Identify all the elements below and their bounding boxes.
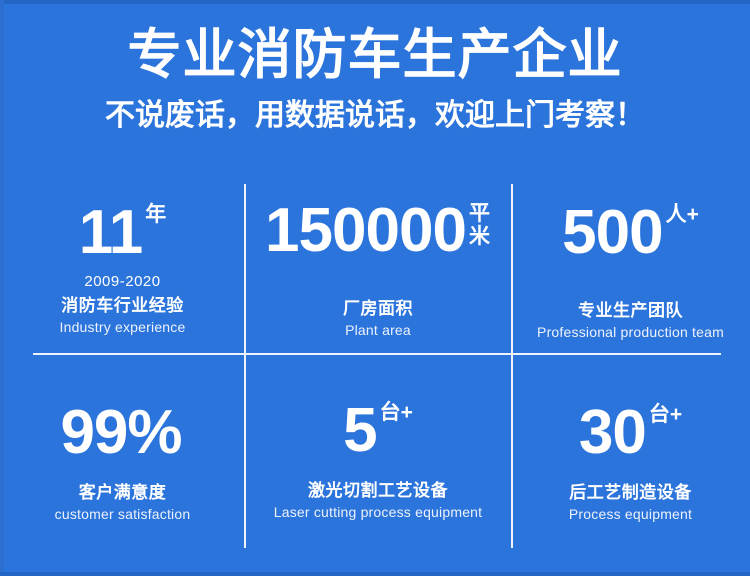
stat-value-group: 5 台+ [343,400,413,462]
company-stats-banner: 专业消防车生产企业 不说废话，用数据说话，欢迎上门考察！ 11 年 2009-2… [0,0,750,576]
top-edge-border [0,0,750,4]
bottom-edge-border [0,572,750,576]
stat-label-en: Laser cutting process equipment [274,503,483,521]
stats-row-bottom: 99% 客户满意度 customer satisfaction 5 台+ 激光切… [0,354,750,526]
stat-unit: 台+ [649,404,682,425]
stat-label-cn: 客户满意度 [79,482,167,503]
stat-number: 500 [562,202,662,264]
stat-label-en: Process equipment [569,505,692,523]
stats-grid: 11 年 2009-2020 消防车行业经验 Industry experien… [0,178,750,550]
stat-number: 99% [60,402,181,464]
stat-label-en: customer satisfaction [55,505,191,523]
grid-divider-vertical-left [244,184,246,548]
stat-label-cn: 厂房面积 [343,298,413,319]
stat-value-group: 150000 平米 [265,200,491,262]
stat-label-cn: 后工艺制造设备 [569,482,692,503]
stat-cell-production-team: 500 人+ 专业生产团队 Professional production te… [511,178,750,354]
stat-number: 30 [579,402,646,464]
stat-unit: 人+ [666,204,699,225]
stats-row-top: 11 年 2009-2020 消防车行业经验 Industry experien… [0,178,750,354]
stat-cell-laser-cutting-equipment: 5 台+ 激光切割工艺设备 Laser cutting process equi… [245,378,511,526]
stat-unit: 台+ [380,402,413,423]
stat-label-cn: 激光切割工艺设备 [308,480,448,501]
stat-cell-plant-area: 150000 平米 厂房面积 Plant area [245,178,511,354]
stat-value-group: 99% [60,402,184,464]
stat-label-cn: 消防车行业经验 [61,295,184,316]
stat-label-en: Industry experience [60,318,186,336]
stat-unit: 平米 [469,202,491,248]
stat-value-group: 500 人+ [562,202,699,264]
stat-unit: 年 [145,204,166,225]
banner-header: 专业消防车生产企业 不说废话，用数据说话，欢迎上门考察！ [0,22,750,136]
stat-year-range: 2009-2020 [84,273,160,290]
grid-divider-horizontal [33,353,721,355]
stat-label-cn: 专业生产团队 [578,300,683,321]
page-title: 专业消防车生产企业 [0,22,750,88]
stat-cell-process-equipment: 30 台+ 后工艺制造设备 Process equipment [511,378,750,526]
stat-number: 150000 [265,200,466,262]
stat-number: 5 [343,400,376,462]
page-subtitle: 不说废话，用数据说话，欢迎上门考察！ [0,96,750,136]
stat-value-group: 30 台+ [579,402,682,464]
grid-divider-vertical-right [511,184,513,548]
stat-cell-customer-satisfaction: 99% 客户满意度 customer satisfaction [0,378,245,526]
stat-value-group: 11 年 [79,202,167,264]
stat-label-en: Professional production team [537,323,724,341]
stat-cell-industry-experience: 11 年 2009-2020 消防车行业经验 Industry experien… [0,178,245,354]
stat-number: 11 [79,202,143,264]
stat-label-en: Plant area [345,321,411,339]
